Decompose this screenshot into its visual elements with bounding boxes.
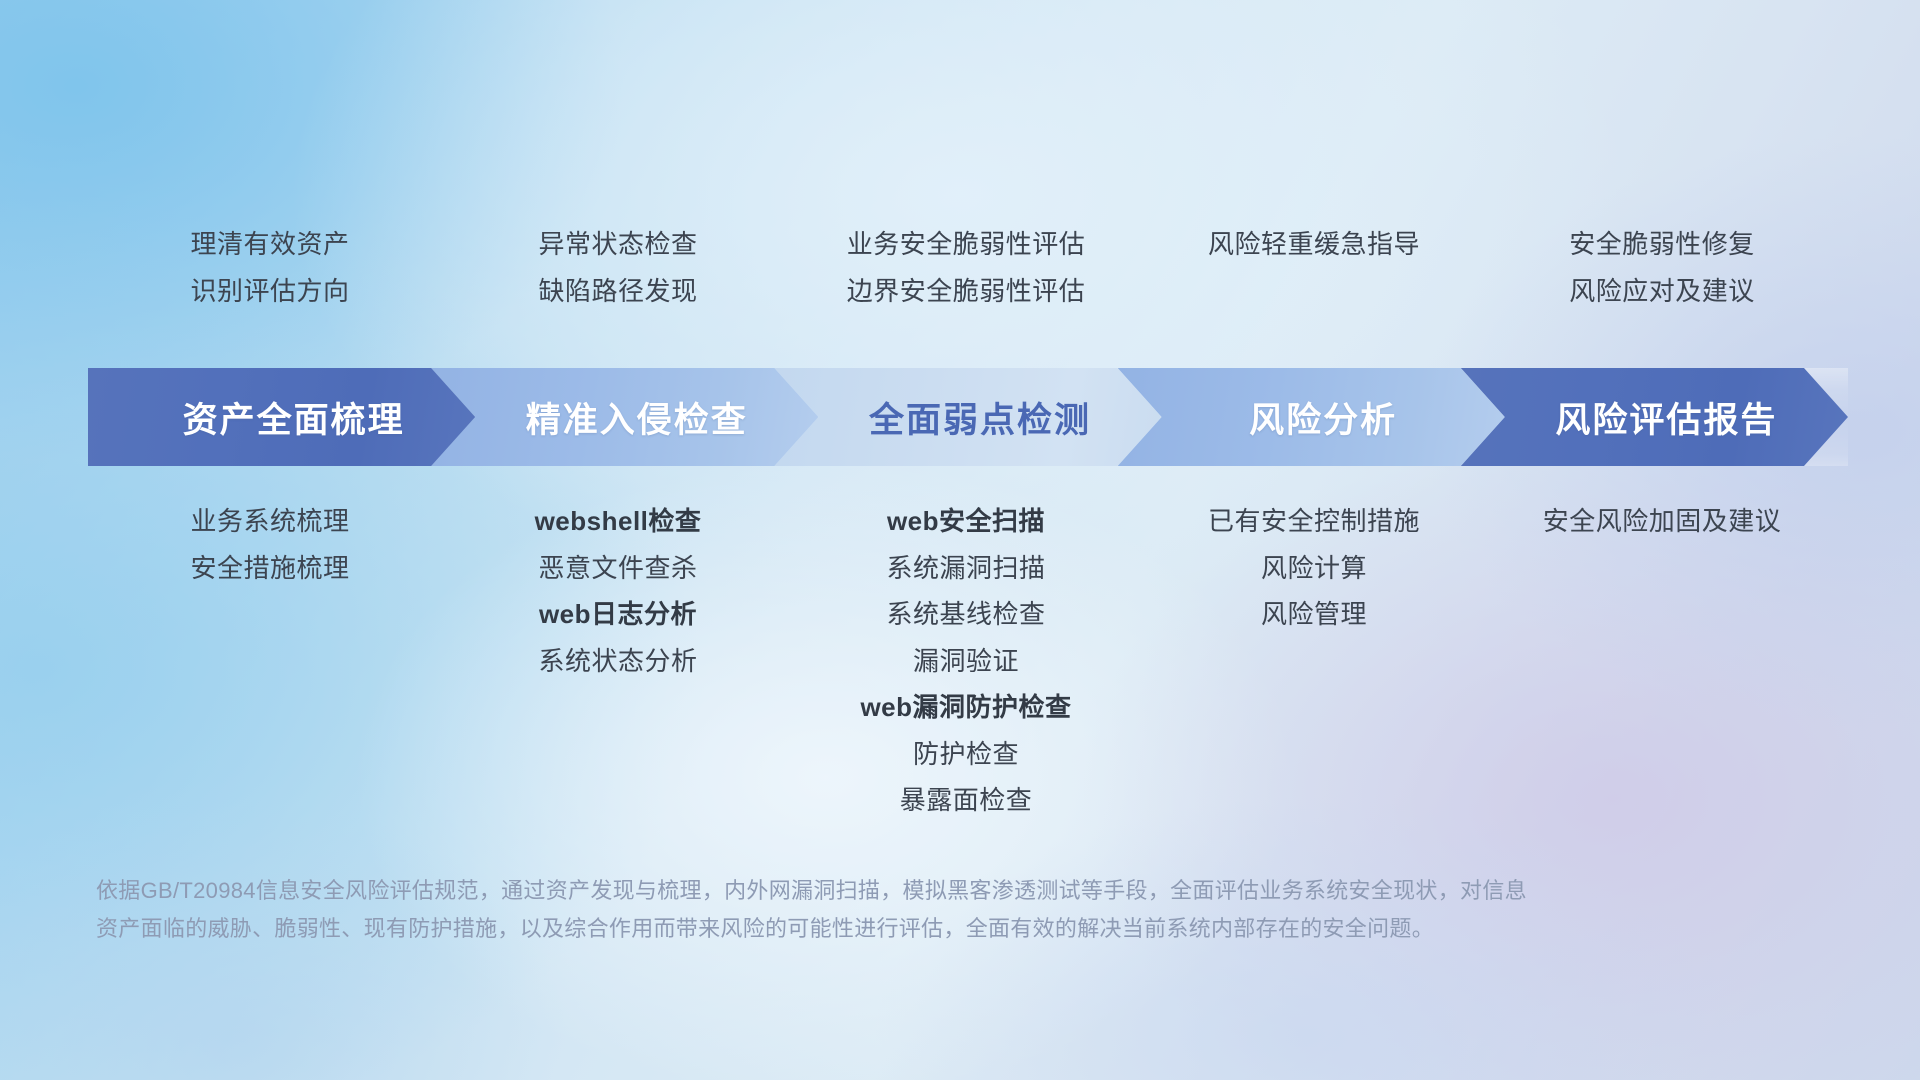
process-stage-title: 精准入侵检查	[526, 392, 748, 443]
stage-bottom-label: 安全风险加固及建议	[1543, 505, 1782, 538]
footer-description: 依据GB/T20984信息安全风险评估规范，通过资产发现与梳理，内外网漏洞扫描，…	[96, 872, 1616, 948]
stage-top-labels-intrusion-check: 异常状态检查缺陷路径发现	[444, 228, 792, 307]
stage-bottom-label: 暴露面检查	[900, 784, 1033, 817]
process-stage-title: 全面弱点检测	[869, 392, 1091, 443]
process-chevron-banner: 风险评估报告风险分析全面弱点检测精准入侵检查资产全面梳理	[88, 368, 1848, 466]
process-stage-asset-inventory[interactable]: 资产全面梳理	[88, 368, 475, 466]
stage-bottom-label: 恶意文件查杀	[538, 552, 697, 585]
stage-top-labels-asset-inventory: 理清有效资产识别评估方向	[96, 228, 444, 307]
stage-top-label: 异常状态检查	[538, 228, 697, 261]
stage-bottom-label: 系统状态分析	[538, 645, 697, 678]
stage-top-labels-row: 理清有效资产识别评估方向异常状态检查缺陷路径发现业务安全脆弱性评估边界安全脆弱性…	[96, 228, 1836, 307]
process-stage-intrusion-check[interactable]: 精准入侵检查	[431, 368, 818, 466]
process-stage-risk-analysis[interactable]: 风险分析	[1118, 368, 1505, 466]
stage-top-label: 识别评估方向	[190, 275, 349, 308]
stage-bottom-labels-intrusion-check: webshell检查恶意文件查杀web日志分析系统状态分析	[444, 505, 792, 677]
process-stage-risk-report[interactable]: 风险评估报告	[1461, 368, 1848, 466]
stage-top-label: 安全脆弱性修复	[1569, 228, 1755, 261]
slide-canvas: 理清有效资产识别评估方向异常状态检查缺陷路径发现业务安全脆弱性评估边界安全脆弱性…	[0, 0, 1920, 1080]
stage-bottom-labels-risk-report: 安全风险加固及建议	[1488, 505, 1836, 538]
stage-bottom-label: 风险管理	[1261, 598, 1367, 631]
stage-bottom-label: web日志分析	[539, 598, 697, 631]
process-stage-weakness-detection[interactable]: 全面弱点检测	[774, 368, 1161, 466]
stage-top-labels-risk-report: 安全脆弱性修复风险应对及建议	[1488, 228, 1836, 307]
stage-top-label: 缺陷路径发现	[538, 275, 697, 308]
stage-top-label: 理清有效资产	[190, 228, 349, 261]
stage-top-labels-weakness-detection: 业务安全脆弱性评估边界安全脆弱性评估	[792, 228, 1140, 307]
footer-line-1: 依据GB/T20984信息安全风险评估规范，通过资产发现与梳理，内外网漏洞扫描，…	[96, 872, 1616, 910]
stage-top-label: 风险应对及建议	[1569, 275, 1755, 308]
stage-bottom-label: 业务系统梳理	[190, 505, 349, 538]
stage-bottom-labels-row: 业务系统梳理安全措施梳理webshell检查恶意文件查杀web日志分析系统状态分…	[96, 505, 1836, 817]
stage-bottom-label: 已有安全控制措施	[1208, 505, 1420, 538]
stage-bottom-label: 安全措施梳理	[190, 552, 349, 585]
stage-top-label: 风险轻重缓急指导	[1208, 228, 1420, 261]
stage-bottom-labels-weakness-detection: web安全扫描系统漏洞扫描系统基线检查漏洞验证web漏洞防护检查防护检查暴露面检…	[792, 505, 1140, 817]
stage-bottom-label: webshell检查	[535, 505, 702, 538]
stage-bottom-labels-risk-analysis: 已有安全控制措施风险计算风险管理	[1140, 505, 1488, 631]
stage-top-labels-risk-analysis: 风险轻重缓急指导	[1140, 228, 1488, 307]
process-stage-title: 风险分析	[1249, 392, 1397, 443]
stage-bottom-label: web漏洞防护检查	[860, 691, 1071, 724]
stage-bottom-label: 漏洞验证	[913, 645, 1019, 678]
stage-bottom-labels-asset-inventory: 业务系统梳理安全措施梳理	[96, 505, 444, 584]
process-stage-title: 资产全面梳理	[183, 392, 405, 443]
stage-bottom-label: 系统漏洞扫描	[886, 552, 1045, 585]
stage-bottom-label: 风险计算	[1261, 552, 1367, 585]
stage-bottom-label: web安全扫描	[887, 505, 1045, 538]
stage-top-label: 边界安全脆弱性评估	[847, 275, 1086, 308]
process-stage-title: 风险评估报告	[1555, 392, 1777, 443]
footer-line-2: 资产面临的威胁、脆弱性、现有防护措施，以及综合作用而带来风险的可能性进行评估，全…	[96, 910, 1616, 948]
stage-top-label: 业务安全脆弱性评估	[847, 228, 1086, 261]
stage-bottom-label: 系统基线检查	[886, 598, 1045, 631]
stage-bottom-label: 防护检查	[913, 738, 1019, 771]
